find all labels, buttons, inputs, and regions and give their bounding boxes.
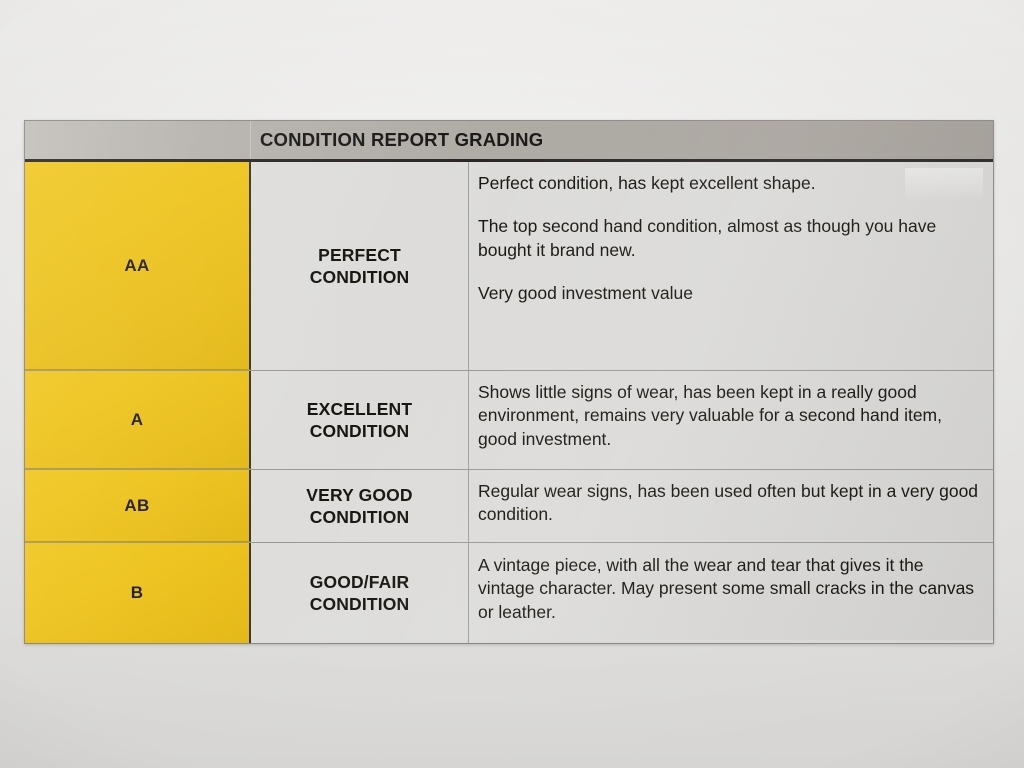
condition-label: PERFECT CONDITION <box>310 244 410 289</box>
table-header-title-cell: CONDITION REPORT GRADING <box>251 121 993 159</box>
description-cell-aa: Perfect condition, has kept excellent sh… <box>469 162 993 370</box>
table-row: AA PERFECT CONDITION Perfect condition, … <box>25 162 993 371</box>
description-paragraph: Perfect condition, has kept excellent sh… <box>478 172 979 195</box>
description-cell-ab: Regular wear signs, has been used often … <box>469 470 993 542</box>
condition-label: EXCELLENT CONDITION <box>307 398 412 443</box>
grade-cell-a: A <box>25 371 251 469</box>
condition-cell-aa: PERFECT CONDITION <box>251 162 469 370</box>
grade-label: A <box>131 410 144 430</box>
table-header-spacer <box>25 121 251 159</box>
grade-cell-aa: AA <box>25 162 251 370</box>
description-paragraph: The top second hand condition, almost as… <box>478 215 979 262</box>
grade-cell-ab: AB <box>25 470 251 542</box>
condition-report-grading-table: CONDITION REPORT GRADING AA PERFECT COND… <box>24 120 994 644</box>
table-header-bar: CONDITION REPORT GRADING <box>25 121 993 162</box>
description-paragraph: Regular wear signs, has been used often … <box>478 480 979 527</box>
grade-label: AA <box>124 256 149 276</box>
table-row: A EXCELLENT CONDITION Shows little signs… <box>25 371 993 470</box>
grade-label: AB <box>124 496 149 516</box>
description-paragraph: Very good investment value <box>478 282 979 305</box>
condition-cell-b: GOOD/FAIR CONDITION <box>251 543 469 643</box>
description-cell-b: A vintage piece, with all the wear and t… <box>469 543 993 643</box>
table-row: AB VERY GOOD CONDITION Regular wear sign… <box>25 470 993 543</box>
grade-label: B <box>131 583 144 603</box>
description-paragraph: Shows little signs of wear, has been kep… <box>478 381 979 451</box>
table-row: B GOOD/FAIR CONDITION A vintage piece, w… <box>25 543 993 643</box>
condition-cell-a: EXCELLENT CONDITION <box>251 371 469 469</box>
condition-cell-ab: VERY GOOD CONDITION <box>251 470 469 542</box>
page-title: CONDITION REPORT GRADING <box>260 129 543 151</box>
condition-label: VERY GOOD CONDITION <box>306 484 412 529</box>
description-paragraph: A vintage piece, with all the wear and t… <box>478 554 979 624</box>
condition-label: GOOD/FAIR CONDITION <box>310 571 410 616</box>
grade-cell-b: B <box>25 543 251 643</box>
description-cell-a: Shows little signs of wear, has been kep… <box>469 371 993 469</box>
